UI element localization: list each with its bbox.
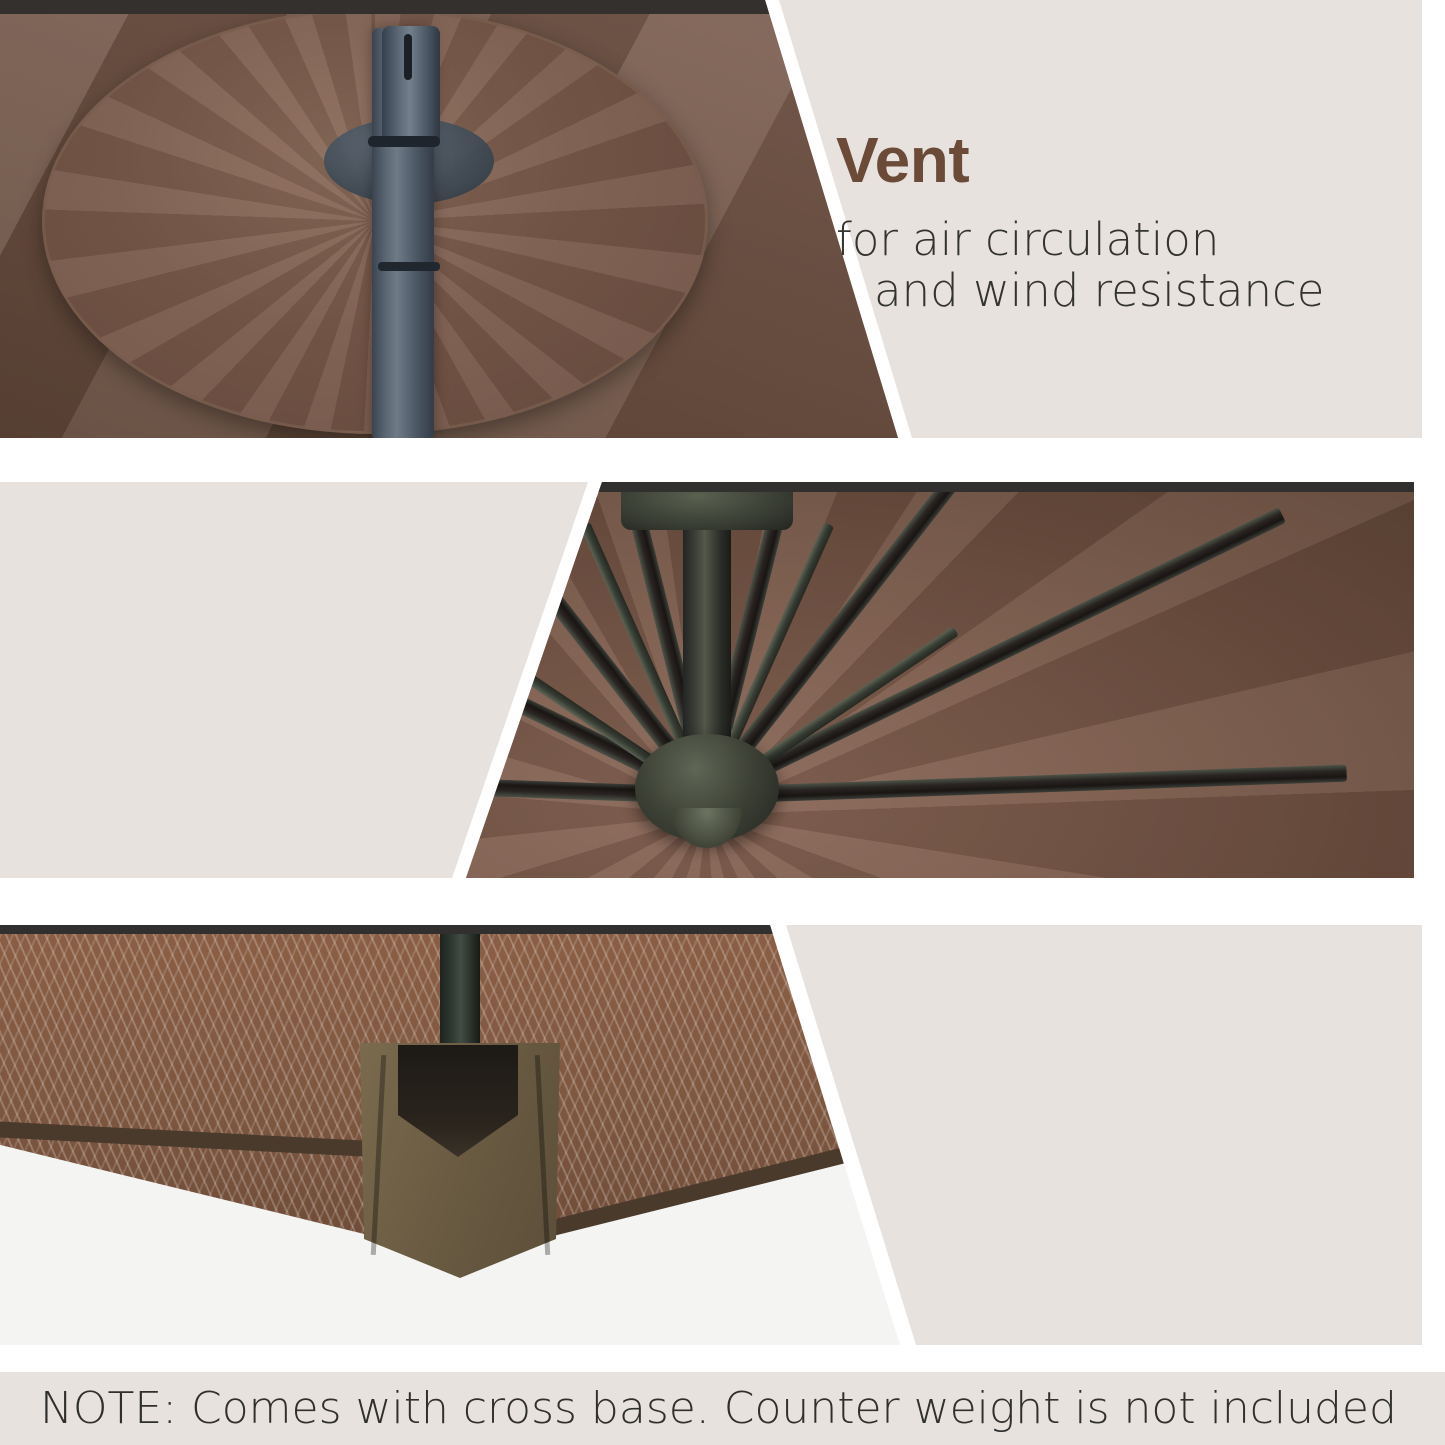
feature-panel-vent: Vent for air circulation and wind resist… [0,0,1445,438]
vent-photo-art [0,0,900,438]
photo-top-edge [0,0,900,14]
rib-7-shape [703,507,1286,803]
infographic-page: Vent for air circulation and wind resist… [0,0,1445,1445]
hub-cap-shape [673,808,741,848]
pole-ring-upper [368,136,440,147]
rib-protection-photo-art [0,925,900,1345]
photo-top-edge [0,925,900,934]
vent-subtitle-line2: and wind resistance [836,266,1324,316]
vent-subtitle-line1: for air circulation [836,213,1219,266]
vent-heading: Vent [836,128,1324,193]
umbrella-vent-cap-photo [0,0,900,438]
vent-text-block: Vent for air circulation and wind resist… [836,128,1324,316]
bottom-note-text: NOTE: Comes with cross base. Counter wei… [0,1383,1397,1434]
feature-panel-eight-ribs: Eight Ribs firmly extend the canopy [0,482,1445,878]
bottom-note-bar: NOTE: Comes with cross base. Counter wei… [0,1372,1445,1445]
umbrella-rib-protection-photo [0,925,900,1345]
pole-ring-lower [378,262,440,271]
vent-subtitle: for air circulation and wind resistance [836,215,1324,316]
rib-8-shape [707,765,1347,804]
feature-panel-rib-protection: Rib Protecion more durable for long use [0,925,1445,1345]
pole-slot-shape [404,34,412,80]
